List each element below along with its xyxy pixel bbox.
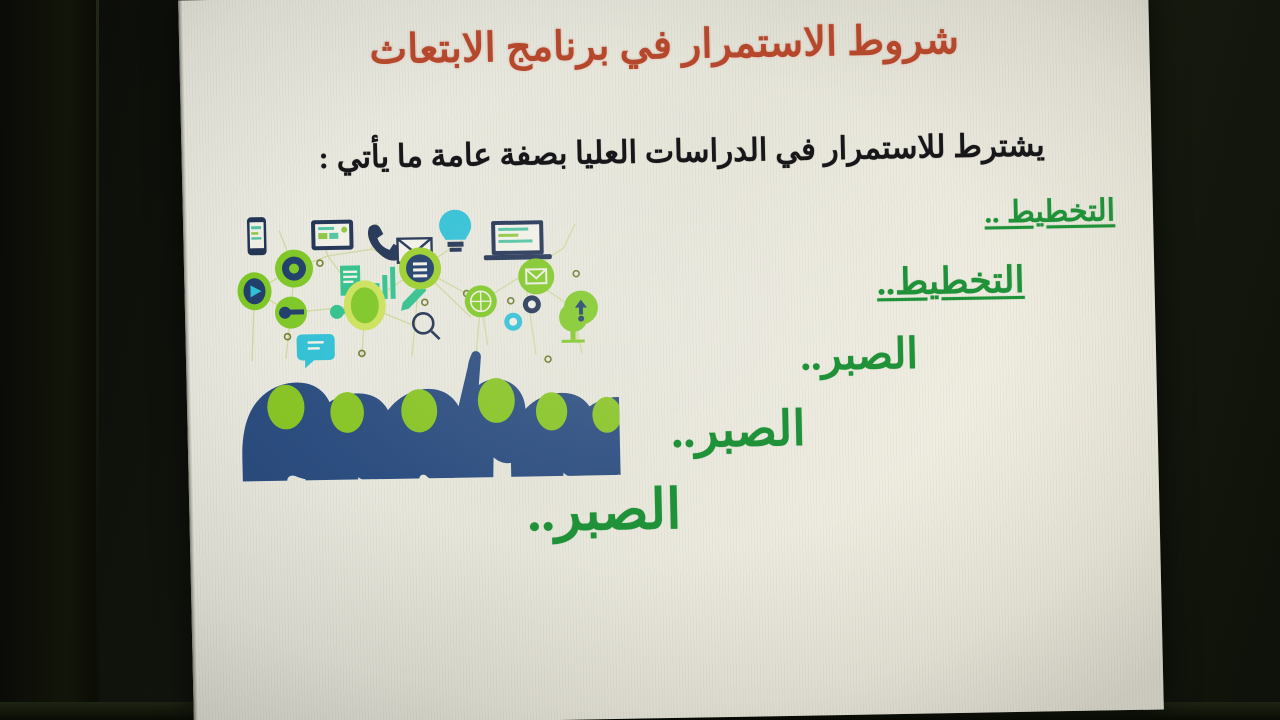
bullet-item-4: الصبر.. xyxy=(671,406,807,456)
bullet-item-5: الصبر.. xyxy=(527,482,682,540)
bullet-list: التخطيط .. التخطيط.. الصبر.. الصبر.. الص… xyxy=(182,182,1161,619)
bullet-item-2: التخطيط.. xyxy=(876,262,1024,301)
projection-screen: شروط الاستمرار في برنامج الابتعاث يشترط … xyxy=(178,0,1164,720)
wall-left-panel xyxy=(0,0,96,720)
presentation-slide: شروط الاستمرار في برنامج الابتعاث يشترط … xyxy=(178,0,1164,720)
slide-subtitle: يشترط للاستمرار في الدراسات العليا بصفة … xyxy=(271,127,1092,177)
screenshot-frame: شروط الاستمرار في برنامج الابتعاث يشترط … xyxy=(0,0,1280,720)
page-title: شروط الاستمرار في برنامج الابتعاث xyxy=(297,16,1032,75)
bullet-item-3: الصبر.. xyxy=(800,334,919,378)
bullet-item-1: التخطيط .. xyxy=(984,196,1115,228)
wall-seam-divider xyxy=(96,0,99,720)
